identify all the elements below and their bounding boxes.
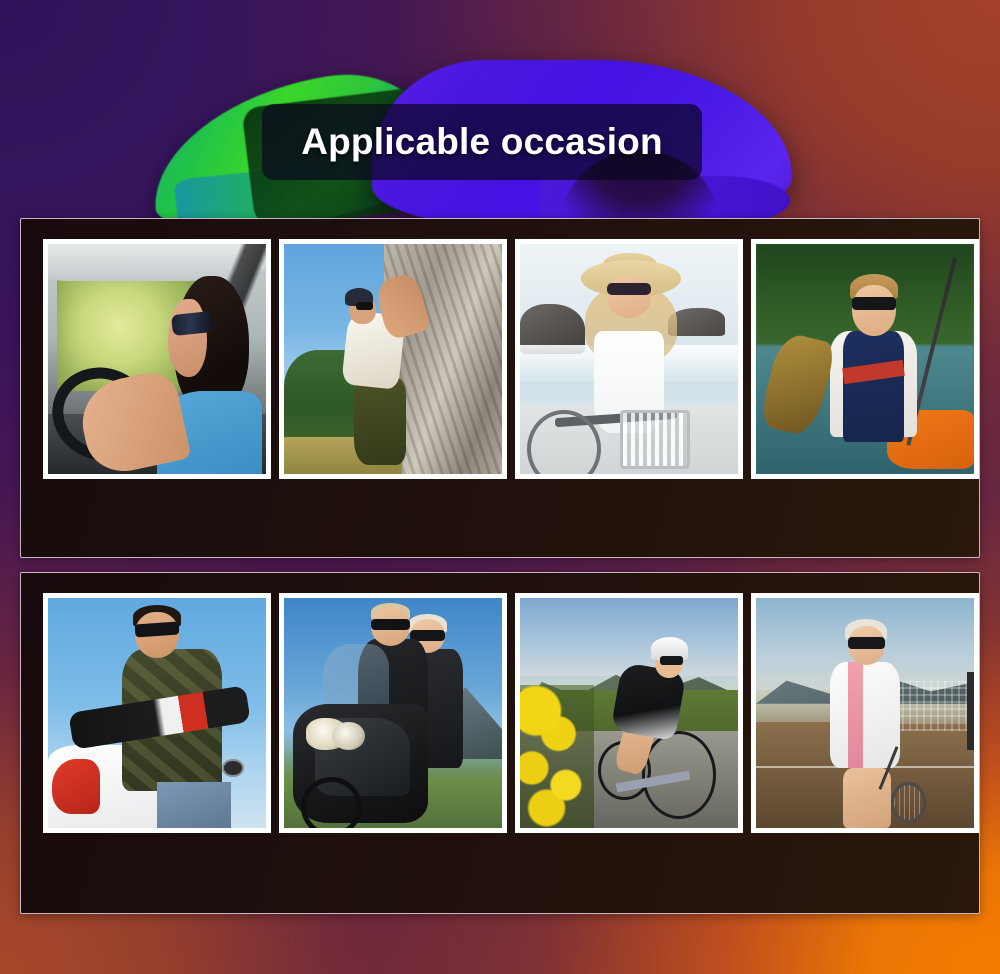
photo-card-drive[interactable] <box>43 239 271 479</box>
photo-card-cycling[interactable] <box>515 593 743 833</box>
page-title: Applicable occasion <box>262 104 702 180</box>
photo-card-go-fishing[interactable] <box>751 239 979 479</box>
photo-card-motorcycle[interactable] <box>279 593 507 833</box>
photo-row-1 <box>21 219 981 479</box>
occasion-panel-row-1: Drive Rock Climbing Seaside play Go fish… <box>20 218 980 558</box>
photo-cycling <box>520 598 738 828</box>
occasion-panel-row-2: Flight Motorcycle Cycling Tennis <box>20 572 980 914</box>
photo-motorcycle <box>284 598 502 828</box>
header-section: Applicable occasion <box>0 0 1000 232</box>
photo-rock-climbing <box>284 244 502 474</box>
photo-tennis <box>756 598 974 828</box>
photo-drive <box>48 244 266 474</box>
photo-card-rock-climbing[interactable] <box>279 239 507 479</box>
photo-card-flight[interactable] <box>43 593 271 833</box>
photo-card-tennis[interactable] <box>751 593 979 833</box>
photo-flight <box>48 598 266 828</box>
photo-seaside-play <box>520 244 738 474</box>
photo-row-2 <box>21 573 981 833</box>
photo-go-fishing <box>756 244 974 474</box>
promo-banner: Applicable occasion <box>0 0 1000 974</box>
photo-card-seaside-play[interactable] <box>515 239 743 479</box>
